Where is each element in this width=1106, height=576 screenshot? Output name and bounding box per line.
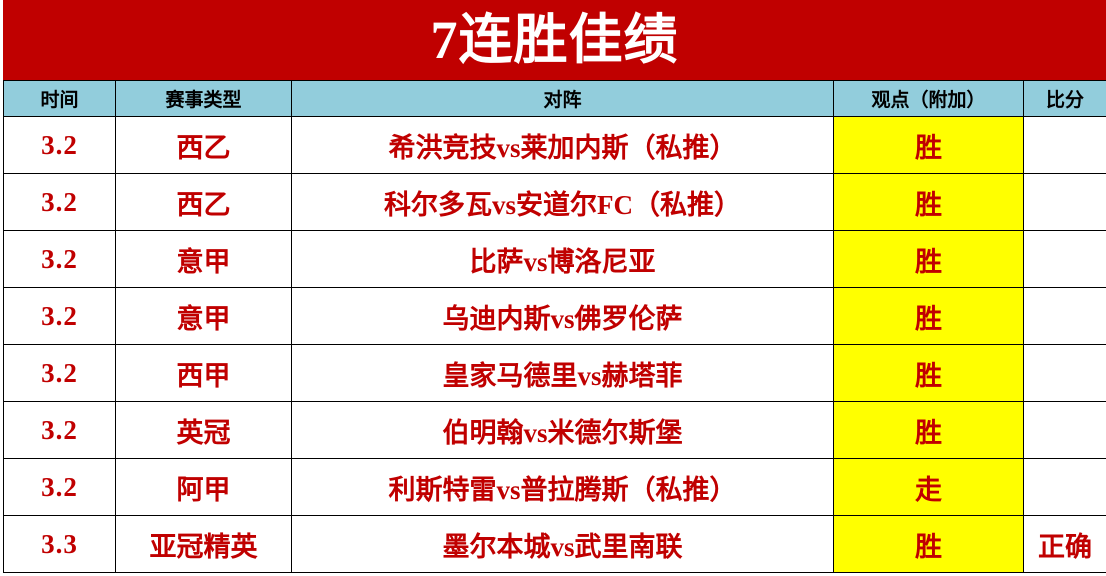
column-header-score[interactable]: 比分 bbox=[1024, 81, 1106, 117]
table-row: 3.2英冠伯明翰vs米德尔斯堡胜 bbox=[4, 402, 1106, 459]
cell-view[interactable]: 胜 bbox=[834, 516, 1024, 573]
table-body: 3.2西乙希洪竞技vs莱加内斯（私推）胜3.2西乙科尔多瓦vs安道尔FC（私推）… bbox=[4, 117, 1106, 573]
table-row: 3.2阿甲利斯特雷vs普拉腾斯（私推）走 bbox=[4, 459, 1106, 516]
cell-match[interactable]: 希洪竞技vs莱加内斯（私推） bbox=[292, 117, 834, 174]
cell-view[interactable]: 胜 bbox=[834, 288, 1024, 345]
cell-league[interactable]: 意甲 bbox=[116, 288, 292, 345]
cell-score[interactable] bbox=[1024, 231, 1106, 288]
cell-time[interactable]: 3.2 bbox=[4, 459, 116, 516]
table-row: 3.2西甲皇家马德里vs赫塔菲胜 bbox=[4, 345, 1106, 402]
column-header-view[interactable]: 观点（附加） bbox=[834, 81, 1024, 117]
cell-league[interactable]: 亚冠精英 bbox=[116, 516, 292, 573]
cell-match[interactable]: 利斯特雷vs普拉腾斯（私推） bbox=[292, 459, 834, 516]
table-row: 3.2西乙希洪竞技vs莱加内斯（私推）胜 bbox=[4, 117, 1106, 174]
column-header-league[interactable]: 赛事类型 bbox=[116, 81, 292, 117]
cell-match[interactable]: 乌迪内斯vs佛罗伦萨 bbox=[292, 288, 834, 345]
cell-view[interactable]: 胜 bbox=[834, 402, 1024, 459]
cell-league[interactable]: 英冠 bbox=[116, 402, 292, 459]
cell-time[interactable]: 3.2 bbox=[4, 231, 116, 288]
cell-league[interactable]: 西甲 bbox=[116, 345, 292, 402]
cell-league[interactable]: 意甲 bbox=[116, 231, 292, 288]
cell-time[interactable]: 3.2 bbox=[4, 345, 116, 402]
cell-time[interactable]: 3.2 bbox=[4, 288, 116, 345]
table-header: 时间 赛事类型 对阵 观点（附加） 比分 bbox=[4, 81, 1106, 117]
cell-score[interactable] bbox=[1024, 174, 1106, 231]
table-row: 3.2意甲乌迪内斯vs佛罗伦萨胜 bbox=[4, 288, 1106, 345]
table-row: 3.2意甲比萨vs博洛尼亚胜 bbox=[4, 231, 1106, 288]
cell-league[interactable]: 西乙 bbox=[116, 117, 292, 174]
cell-match[interactable]: 比萨vs博洛尼亚 bbox=[292, 231, 834, 288]
cell-time[interactable]: 3.2 bbox=[4, 174, 116, 231]
spreadsheet-canvas: 7连胜佳绩 时间 赛事类型 对阵 观点（附加） 比分 3.2西乙希洪竞技vs莱加… bbox=[0, 0, 1106, 576]
cell-view[interactable]: 胜 bbox=[834, 231, 1024, 288]
cell-time[interactable]: 3.2 bbox=[4, 117, 116, 174]
cell-time[interactable]: 3.3 bbox=[4, 516, 116, 573]
results-table: 时间 赛事类型 对阵 观点（附加） 比分 3.2西乙希洪竞技vs莱加内斯（私推）… bbox=[3, 80, 1106, 573]
cell-view[interactable]: 胜 bbox=[834, 174, 1024, 231]
cell-match[interactable]: 科尔多瓦vs安道尔FC（私推） bbox=[292, 174, 834, 231]
cell-score[interactable] bbox=[1024, 345, 1106, 402]
page-title: 7连胜佳绩 bbox=[431, 11, 679, 69]
cell-score[interactable] bbox=[1024, 402, 1106, 459]
cell-view[interactable]: 胜 bbox=[834, 117, 1024, 174]
title-banner: 7连胜佳绩 bbox=[3, 0, 1106, 80]
column-header-time[interactable]: 时间 bbox=[4, 81, 116, 117]
cell-match[interactable]: 伯明翰vs米德尔斯堡 bbox=[292, 402, 834, 459]
column-header-match[interactable]: 对阵 bbox=[292, 81, 834, 117]
cell-score[interactable] bbox=[1024, 459, 1106, 516]
cell-league[interactable]: 西乙 bbox=[116, 174, 292, 231]
cell-match[interactable]: 墨尔本城vs武里南联 bbox=[292, 516, 834, 573]
cell-league[interactable]: 阿甲 bbox=[116, 459, 292, 516]
cell-score[interactable]: 正确 bbox=[1024, 516, 1106, 573]
cell-view[interactable]: 胜 bbox=[834, 345, 1024, 402]
table-row: 3.3亚冠精英墨尔本城vs武里南联胜正确 bbox=[4, 516, 1106, 573]
cell-score[interactable] bbox=[1024, 117, 1106, 174]
table-row: 3.2西乙科尔多瓦vs安道尔FC（私推）胜 bbox=[4, 174, 1106, 231]
header-row: 时间 赛事类型 对阵 观点（附加） 比分 bbox=[4, 81, 1106, 117]
cell-time[interactable]: 3.2 bbox=[4, 402, 116, 459]
cell-score[interactable] bbox=[1024, 288, 1106, 345]
cell-match[interactable]: 皇家马德里vs赫塔菲 bbox=[292, 345, 834, 402]
cell-view[interactable]: 走 bbox=[834, 459, 1024, 516]
